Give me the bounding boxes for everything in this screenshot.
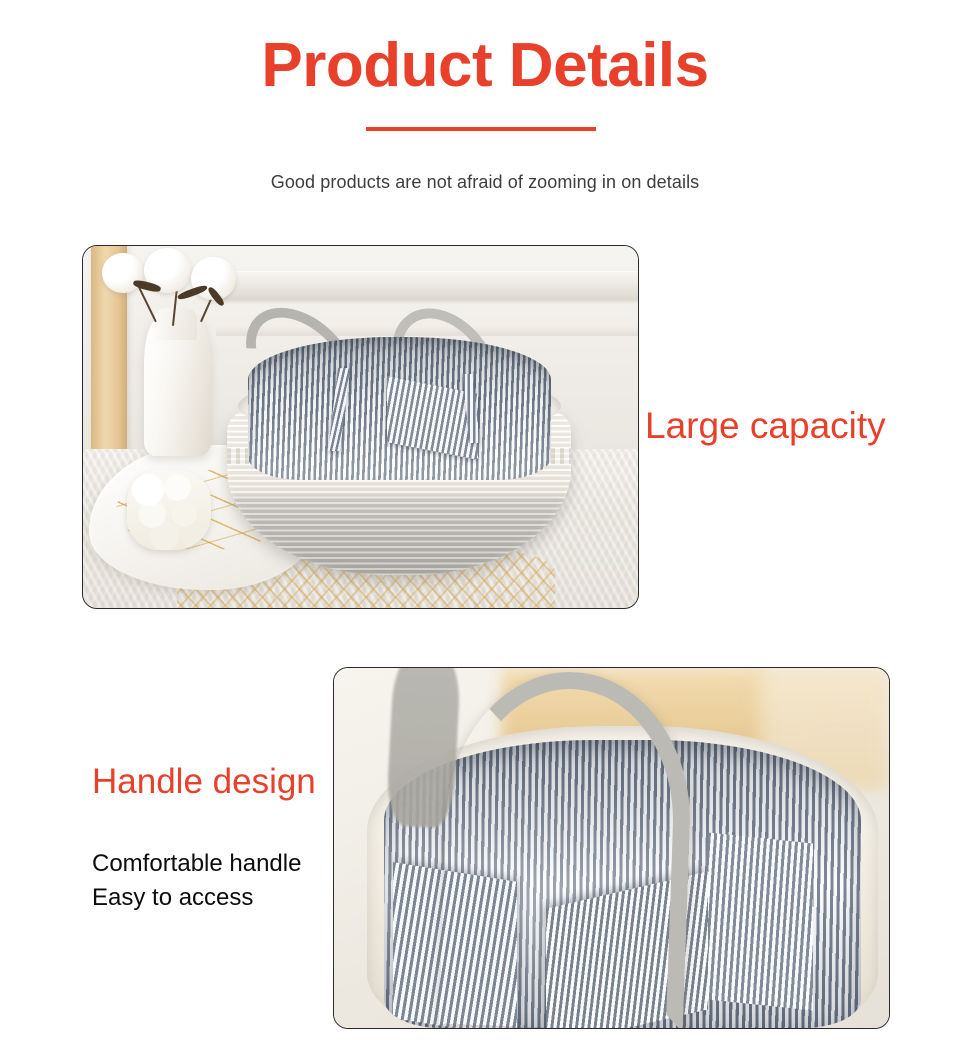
handle-detail-line-2: Easy to access [92,881,301,915]
caption-handle-design: Handle design [92,762,316,802]
striped-lining [248,337,551,480]
braided-rope-handle [439,667,695,1029]
wall-moulding [216,271,638,300]
rope-basket [227,337,571,576]
feature-image-handle-design [333,667,890,1029]
handle-closeup-scene [334,668,889,1028]
page-subtitle: Good products are not afraid of zooming … [0,172,970,193]
feature-image-large-capacity [82,245,639,609]
bubble-candle [127,470,210,550]
vase-neck [155,308,197,341]
basket-scene [83,246,638,608]
title-underline [366,127,596,131]
handle-detail-line-1: Comfortable handle [92,847,301,881]
page-title: Product Details [0,33,970,98]
handle-design-details: Comfortable handle Easy to access [92,847,301,915]
lining-divider [708,832,813,1010]
caption-large-capacity: Large capacity [645,405,886,447]
